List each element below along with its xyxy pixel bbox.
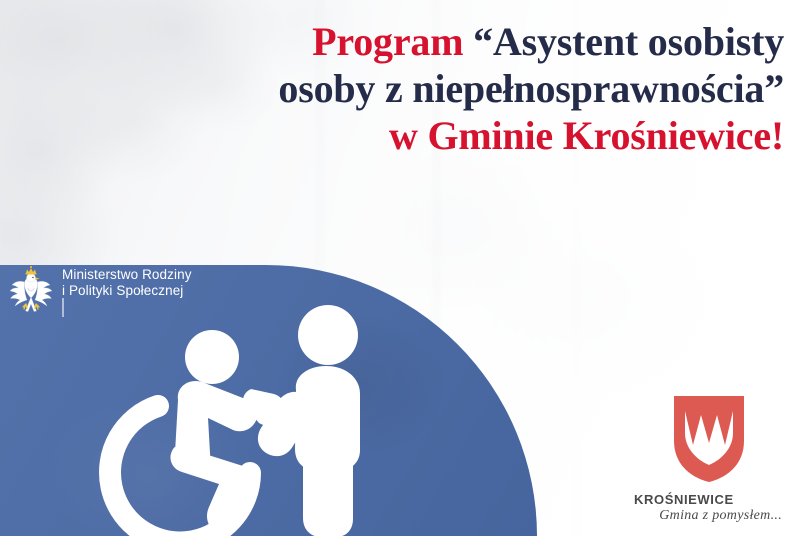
- headline-line-1-red: Program: [312, 19, 463, 64]
- krosniewice-crest-block: KROŚNIEWICE Gmina z pomysłem...: [630, 393, 788, 524]
- krosniewice-name: KROŚNIEWICE: [630, 492, 788, 507]
- krosniewice-shield-wrap: [630, 393, 788, 485]
- ministry-line-2: i Polityki Społecznej: [62, 283, 192, 299]
- ministry-line-1: Ministerstwo Rodziny: [62, 267, 192, 283]
- krosniewice-coat-of-arms-icon: [671, 393, 747, 485]
- poster-headline: Program “Asystent osobisty osoby z niepe…: [172, 18, 784, 159]
- polish-flag-bar-icon: [62, 298, 64, 317]
- headline-line-1: Program “Asystent osobisty: [172, 18, 784, 65]
- wheelchair-assistant-pictogram-icon: [98, 290, 398, 536]
- headline-line-1-navy: “Asystent osobisty: [473, 19, 784, 64]
- krosniewice-tagline: Gmina z pomysłem...: [630, 508, 788, 524]
- headline-line-2: osoby z niepełnosprawnościa”: [172, 65, 784, 112]
- ministry-logo-lockup: Ministerstwo Rodziny i Polityki Społeczn…: [8, 264, 192, 317]
- polish-eagle-emblem-icon: [8, 265, 54, 315]
- poster-canvas: Program “Asystent osobisty osoby z niepe…: [0, 0, 804, 536]
- ministry-text-block: Ministerstwo Rodziny i Polityki Społeczn…: [62, 264, 192, 317]
- headline-line-3: w Gminie Krośniewice!: [172, 112, 784, 159]
